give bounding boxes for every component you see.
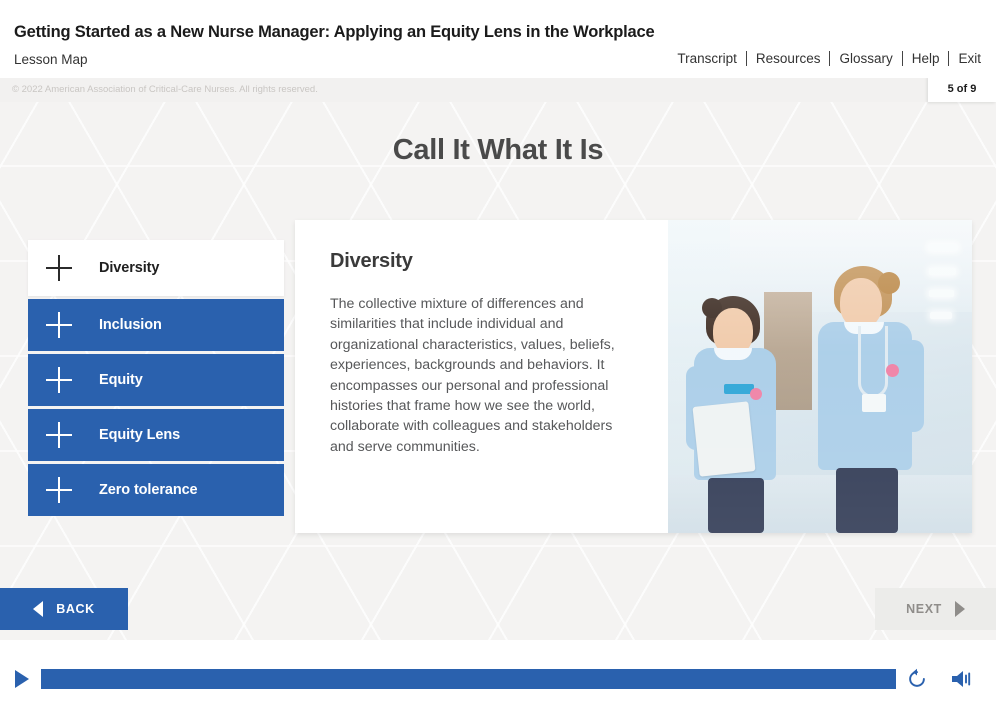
photo-nurse-clipboard <box>692 401 755 476</box>
photo-nurse-head <box>840 278 882 328</box>
nav-link-resources[interactable]: Resources <box>747 51 830 66</box>
plus-icon <box>46 367 72 393</box>
lesson-map-link[interactable]: Lesson Map <box>14 52 88 67</box>
photo-nurse-collar <box>714 348 752 360</box>
next-button[interactable]: NEXT <box>875 588 996 630</box>
back-button-label: BACK <box>56 602 95 616</box>
content-card-body: The collective mixture of differences an… <box>330 294 634 457</box>
plus-icon <box>46 422 72 448</box>
nav-link-help[interactable]: Help <box>903 51 949 66</box>
copyright-strip: © 2022 American Association of Critical-… <box>0 78 996 102</box>
photo-nurse-arm <box>902 340 924 432</box>
photo-nurse-lanyard <box>858 326 888 398</box>
course-player-screen: Getting Started as a New Nurse Manager: … <box>0 0 996 718</box>
accordion-item-label: Zero tolerance <box>99 482 198 498</box>
photo-nurse-bun <box>878 272 900 294</box>
accordion-item-label: Equity Lens <box>99 427 180 443</box>
chevron-left-icon <box>33 601 43 617</box>
slide-stage: Call It What It Is Diversity Inclusion E… <box>0 102 996 640</box>
media-player-bar <box>0 640 996 718</box>
course-title: Getting Started as a New Nurse Manager: … <box>14 23 654 42</box>
slide-title: Call It What It Is <box>0 134 996 167</box>
accordion-item-zero-tolerance[interactable]: Zero tolerance <box>28 464 284 516</box>
plus-icon <box>46 312 72 338</box>
nav-link-transcript[interactable]: Transcript <box>668 51 746 66</box>
copyright-text: © 2022 American Association of Critical-… <box>12 84 318 95</box>
chevron-right-icon <box>955 601 965 617</box>
content-card-text: Diversity The collective mixture of diff… <box>295 220 668 533</box>
nav-link-glossary[interactable]: Glossary <box>830 51 901 66</box>
progress-bar-fill <box>41 669 896 689</box>
photo-nurse-id-card <box>862 394 886 412</box>
accordion-item-label: Inclusion <box>99 317 162 333</box>
volume-icon[interactable] <box>950 668 974 690</box>
progress-bar[interactable] <box>41 669 896 689</box>
nav-link-exit[interactable]: Exit <box>949 51 984 66</box>
content-card-heading: Diversity <box>330 250 634 273</box>
next-button-label: NEXT <box>906 602 942 616</box>
photo-nurse-right <box>810 264 950 533</box>
accordion-item-equity[interactable]: Equity <box>28 354 284 406</box>
photo-nurse-trousers <box>836 468 898 533</box>
photo-nurse-fob-watch <box>886 364 899 377</box>
content-card: Diversity The collective mixture of diff… <box>295 220 972 533</box>
photo-nurse-fob-watch <box>750 388 762 400</box>
nurses-photo <box>668 220 972 533</box>
header-navigation: Transcript Resources Glossary Help Exit <box>668 51 984 66</box>
plus-icon <box>46 255 72 281</box>
accordion-item-label: Diversity <box>99 260 159 276</box>
accordion-item-label: Equity <box>99 372 143 388</box>
play-icon[interactable] <box>15 670 29 688</box>
accordion-item-diversity[interactable]: Diversity <box>28 240 284 296</box>
plus-icon <box>46 477 72 503</box>
accordion-list: Diversity Inclusion Equity Equity Lens Z… <box>28 240 284 519</box>
photo-nurse-trousers <box>708 478 764 533</box>
accordion-item-equity-lens[interactable]: Equity Lens <box>28 409 284 461</box>
page-counter-badge: 5 of 9 <box>928 76 996 102</box>
replay-icon[interactable] <box>906 668 928 690</box>
photo-ceiling-light <box>928 244 958 251</box>
course-header: Getting Started as a New Nurse Manager: … <box>0 0 996 78</box>
photo-nurse-left <box>686 292 816 533</box>
accordion-item-inclusion[interactable]: Inclusion <box>28 299 284 351</box>
back-button[interactable]: BACK <box>0 588 128 630</box>
